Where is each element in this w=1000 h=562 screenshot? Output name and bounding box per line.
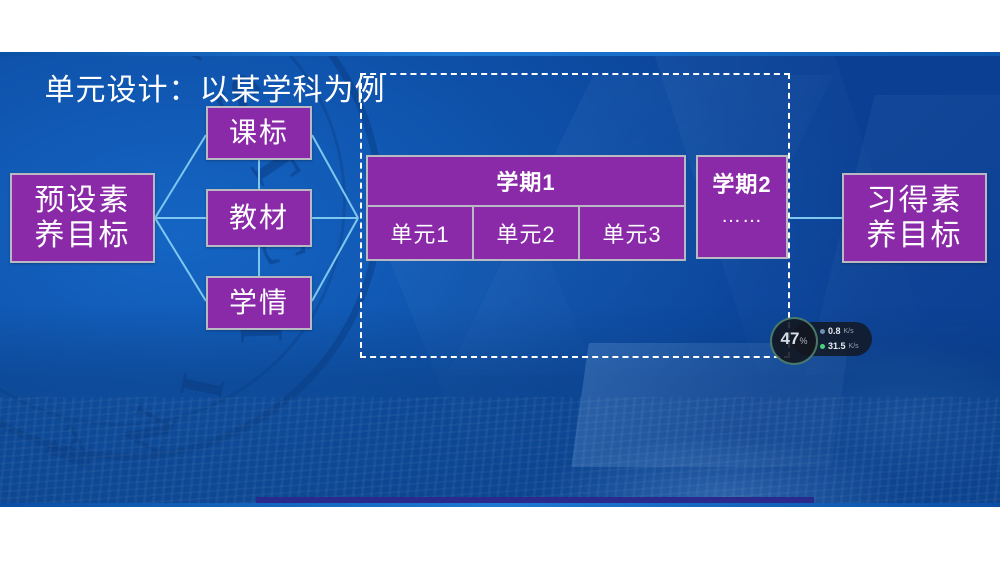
top-blue-rule bbox=[0, 52, 1000, 56]
netspeed-upload-row: 0.8 K/s bbox=[820, 326, 854, 336]
node-label-line2: 养目标 bbox=[35, 218, 131, 253]
term1-unit-1[interactable]: 单元1 bbox=[368, 207, 474, 259]
term1-unit-3[interactable]: 单元3 bbox=[580, 207, 684, 259]
node-label-line1: 预设素 bbox=[35, 183, 131, 218]
upload-value: 0.8 bbox=[828, 326, 841, 336]
node-label-stack: 预设素 养目标 bbox=[35, 183, 131, 254]
term2-ellipsis: …… bbox=[721, 205, 763, 228]
node-label-line1: 习得素 bbox=[867, 183, 963, 218]
node-label: 学情 bbox=[229, 286, 289, 319]
top-white-margin bbox=[0, 0, 1000, 55]
upload-arrow-icon bbox=[820, 329, 825, 334]
percent-sign: % bbox=[799, 321, 807, 361]
node-label: 课标 bbox=[229, 116, 289, 149]
term1-table[interactable]: 学期1 单元1 单元2 单元3 bbox=[366, 155, 686, 261]
term1-unit-row: 单元1 单元2 单元3 bbox=[368, 207, 684, 259]
node-label: 教材 bbox=[229, 201, 289, 234]
cpu-usage-gauge: 47 % bbox=[770, 317, 818, 365]
download-unit: K/s bbox=[849, 343, 859, 350]
node-preset-literacy-goal[interactable]: 预设素 养目标 bbox=[10, 173, 155, 263]
node-acquired-literacy-goal[interactable]: 习得素 养目标 bbox=[842, 173, 987, 263]
slide-canvas: E A S T C H I N A bbox=[0, 0, 1000, 562]
node-kebiao[interactable]: 课标 bbox=[206, 106, 312, 160]
term1-unit-2[interactable]: 单元2 bbox=[474, 207, 580, 259]
term2-header: 学期2 bbox=[712, 167, 771, 199]
unit-design-group-title: 单元设计：以某学科为例 bbox=[0, 65, 430, 109]
cpu-percent-value: 47 bbox=[781, 319, 800, 359]
node-jiaocai[interactable]: 教材 bbox=[206, 189, 312, 247]
node-label-stack: 习得素 养目标 bbox=[867, 183, 963, 254]
download-arrow-icon bbox=[820, 344, 825, 349]
network-speed-widget[interactable]: 0.8 K/s 31.5 K/s 47 % bbox=[770, 317, 872, 361]
bottom-white-margin bbox=[0, 507, 1000, 562]
node-label-line2: 养目标 bbox=[867, 218, 963, 253]
netspeed-download-row: 31.5 K/s bbox=[820, 341, 859, 351]
node-xueqing[interactable]: 学情 bbox=[206, 276, 312, 330]
term2-table[interactable]: 学期2 …… bbox=[696, 155, 788, 259]
download-value: 31.5 bbox=[828, 341, 846, 351]
upload-unit: K/s bbox=[844, 328, 854, 335]
term1-header: 学期1 bbox=[368, 157, 684, 207]
slide-background: E A S T C H I N A bbox=[0, 55, 1000, 507]
